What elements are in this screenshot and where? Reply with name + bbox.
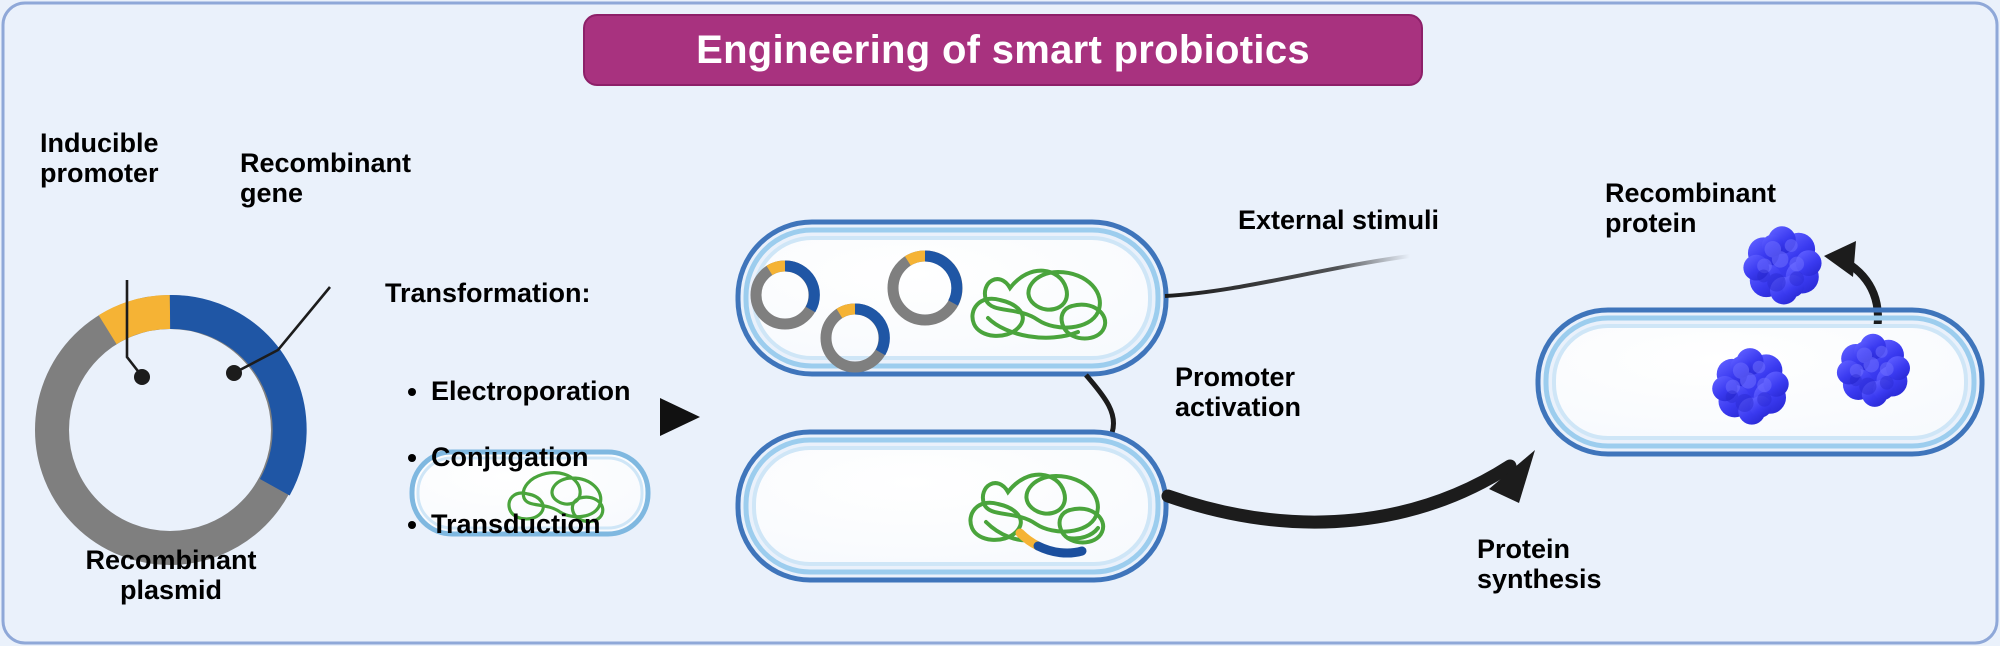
label-promoter-activation: Promoter activation [1175, 362, 1301, 422]
transformation-heading: Transformation: [385, 278, 631, 308]
transformation-methods-list: Electroporation Conjugation Transduction [385, 343, 631, 573]
title-banner: Engineering of smart probiotics [583, 14, 1423, 86]
label-recombinant-protein: Recombinant protein [1605, 178, 1776, 238]
list-item: Transduction [431, 509, 631, 539]
transformed-bacterium-graphic [738, 222, 1166, 374]
transformation-block: Transformation: Electroporation Conjugat… [385, 248, 631, 603]
label-protein-synthesis: Protein synthesis [1477, 534, 1602, 594]
promoter-leader-dot [134, 369, 150, 385]
promoter-arc [108, 312, 170, 330]
list-item: Electroporation [431, 376, 631, 406]
label-recombinant-gene: Recombinant gene [240, 148, 411, 208]
gene-leader-dot [226, 365, 242, 381]
label-inducible-promoter: Inducible promoter [40, 128, 159, 188]
figure-root: Engineering of smart probiotics Inducibl… [0, 0, 2000, 646]
page-title: Engineering of smart probiotics [696, 28, 1310, 73]
list-item: Conjugation [431, 442, 631, 472]
label-external-stimuli: External stimuli [1238, 205, 1439, 235]
activated-bacterium-graphic [738, 432, 1166, 580]
protein-producing-bacterium-graphic [1538, 310, 1982, 454]
label-recombinant-plasmid: Recombinant plasmid [56, 545, 286, 605]
diagram-graphics [0, 0, 2000, 646]
